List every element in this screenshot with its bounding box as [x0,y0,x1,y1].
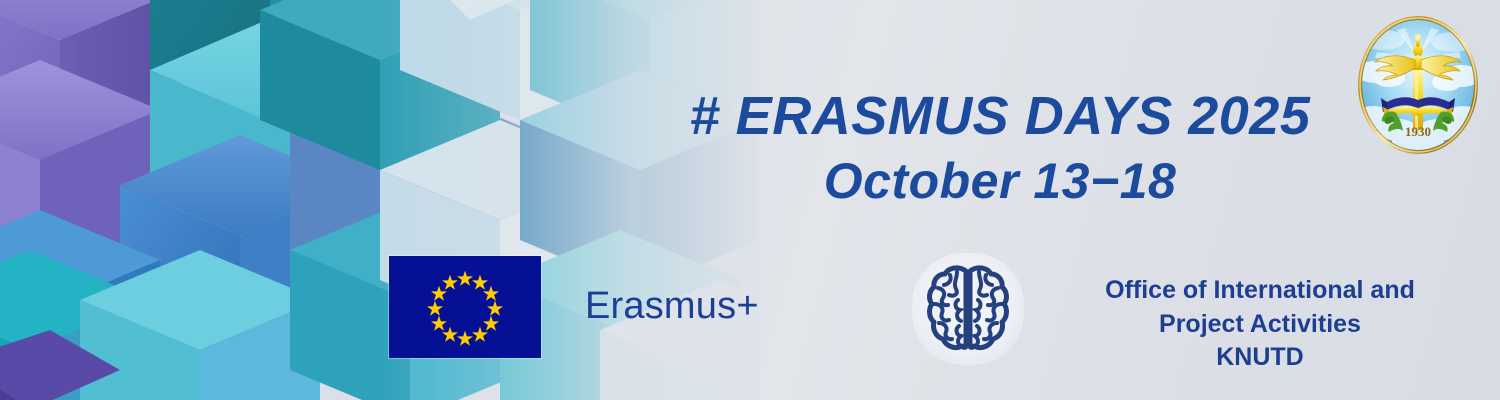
erasmus-days-banner: # ERASMUS DAYS 2025 October 13−18 [0,0,1500,400]
erasmus-plus-wordmark: Erasmus+ [585,285,759,328]
office-line-3: KNUTD [1060,341,1460,375]
office-line-2: Project Activities [1060,308,1460,342]
knutd-emblem: 1930 [1353,14,1483,156]
event-dates: October 13−18 [620,155,1380,208]
office-name-block: Office of International and Project Acti… [1060,274,1460,375]
brain-icon [926,263,1010,355]
headline-block: # ERASMUS DAYS 2025 October 13−18 [620,88,1380,208]
eu-flag-icon [389,256,541,358]
brain-logo [912,253,1024,365]
office-line-1: Office of International and [1060,274,1460,308]
page-title: # ERASMUS DAYS 2025 [620,88,1380,145]
emblem-year: 1930 [1405,124,1431,139]
